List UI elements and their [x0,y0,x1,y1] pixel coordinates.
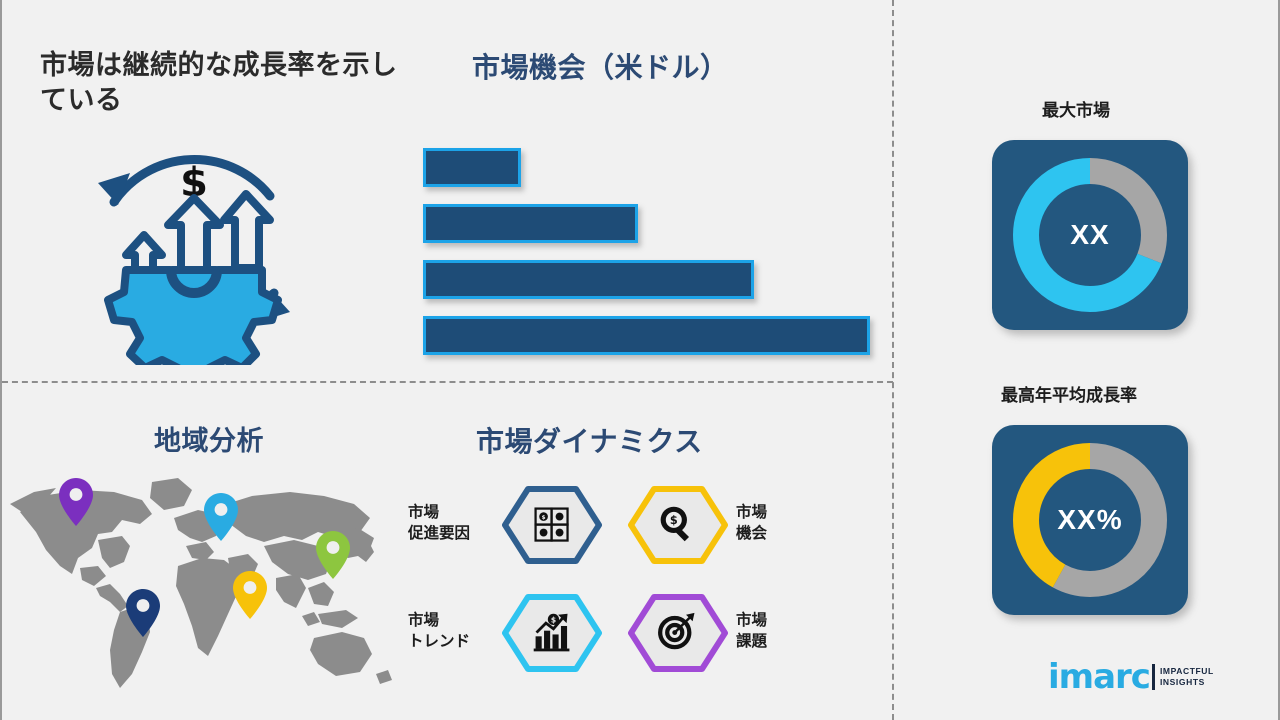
kpi-title-largest-market: 最大市場 [1042,96,1110,121]
dynamics-item[interactable]: $市場 機会 [628,484,838,564]
dynamics-grid: 市場 促進要因$$市場 機会市場 トレンド$市場 課題 [408,484,838,684]
logo-tagline-line1: IMPACTFUL [1160,666,1214,677]
bar-3 [423,260,754,299]
dynamics-item-label: 市場 機会 [736,503,816,545]
bar-2 [423,204,638,243]
logo-wordmark: imarc [1048,660,1150,694]
svg-text:$: $ [670,514,678,527]
opportunity-bar-chart [423,148,883,348]
dynamics-item[interactable]: 市場 促進要因$ [408,484,618,564]
donut-value: XX [992,219,1188,251]
pin-europe [203,492,239,542]
svg-text:$: $ [542,515,546,521]
bar-1 [423,148,521,187]
bar-4 [423,316,870,355]
bar-chart-arrow-dollar-icon: $ [502,593,602,671]
logo-divider [1152,664,1155,690]
imarc-logo: imarc IMPACTFUL INSIGHTS [1048,656,1214,698]
vertical-divider [892,0,894,720]
pin-north-america [58,477,94,527]
pin-middle-east [232,570,268,620]
kpi-card-highest-cagr: XX% [992,425,1188,615]
opportunity-panel-title: 市場機会（米ドル） [472,50,729,85]
logo-tagline: IMPACTFUL INSIGHTS [1160,666,1214,687]
logo-tagline-line2: INSIGHTS [1160,677,1214,688]
kpi-title-highest-cagr: 最高年平均成長率 [1001,381,1137,406]
growth-cycle-gear-icon: $ [74,130,314,365]
growth-panel-title: 市場は継続的な成長率を示している [40,48,400,117]
puzzle-pieces-icon: $ [502,485,602,563]
dynamics-panel-title: 市場ダイナミクス [476,424,703,459]
dynamics-item-label: 市場 トレンド [408,611,494,653]
dynamics-item[interactable]: 市場 トレンド$ [408,592,618,672]
dynamics-item-label: 市場 促進要因 [408,503,494,545]
infographic-slide: 市場は継続的な成長率を示している $ 市場機会（米ドル） 地 [0,0,1280,720]
horizontal-divider [2,381,893,383]
target-dart-icon [628,593,728,671]
donut-value: XX% [992,504,1188,536]
regional-panel-title: 地域分析 [154,425,264,459]
dynamics-item[interactable]: 市場 課題 [628,592,838,672]
kpi-card-largest-market: XX [992,140,1188,330]
dynamics-item-label: 市場 課題 [736,611,816,653]
pin-east-asia [315,530,351,580]
pin-south-america [125,588,161,638]
magnifier-dollar-icon: $ [628,485,728,563]
svg-text:$: $ [551,616,556,625]
